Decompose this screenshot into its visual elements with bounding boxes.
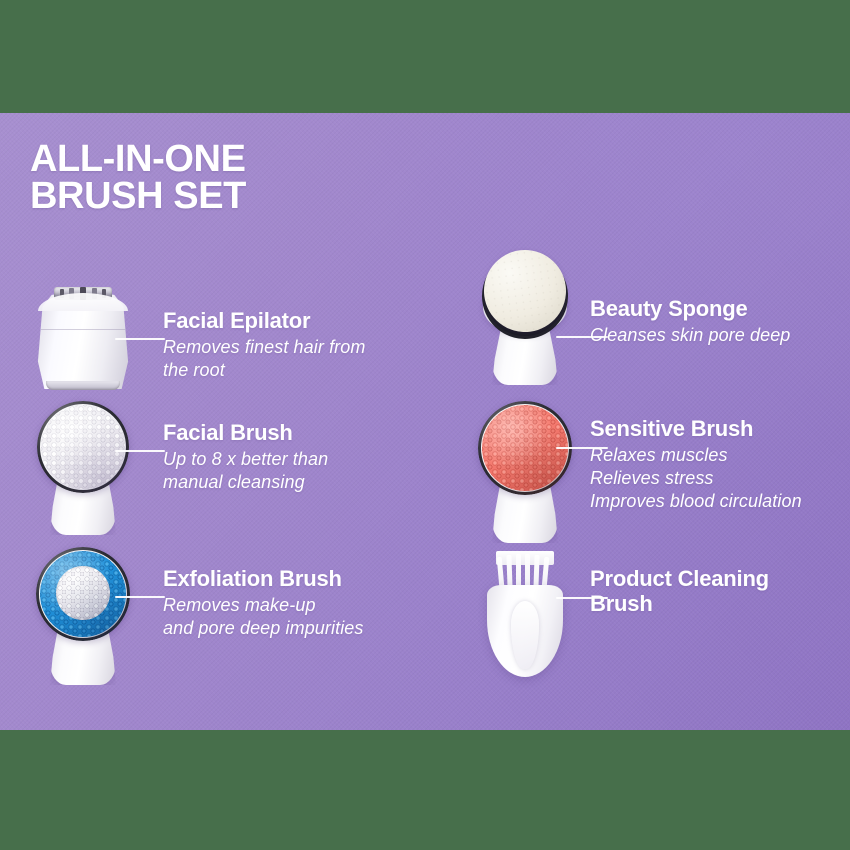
purple-stage: ALL-IN-ONE BRUSH SET [0,113,850,730]
exfoliation-brush-description: Removes make-up and pore deep impurities [163,594,428,640]
page-title: ALL-IN-ONE BRUSH SET [30,141,246,215]
leader-line-exfoliation-brush [115,596,165,598]
facial-epilator-copy: Facial Epilator Removes finest hair from… [163,309,418,382]
facial-epilator-icon [28,273,138,391]
feature-product-cleaning-brush: Product Cleaning Brush [460,545,850,690]
facial-brush-copy: Facial Brush Up to 8 x better than manua… [163,421,418,494]
sensitive-brush-description: Relaxes muscles Relieves stress Improves… [590,444,850,513]
beauty-sponge-copy: Beauty Sponge Cleanses skin pore deep [590,297,850,347]
beauty-sponge-description: Cleanses skin pore deep [590,324,850,347]
product-cleaning-brush-title: Product Cleaning Brush [590,567,850,616]
product-cleaning-brush-icon [470,545,580,690]
leader-line-facial-brush [115,450,165,452]
leader-line-facial-epilator [115,338,165,340]
facial-epilator-description: Removes finest hair from the root [163,336,418,382]
feature-exfoliation-brush: Exfoliation Brush Removes make-up and po… [20,541,420,686]
feature-facial-epilator: Facial Epilator Removes finest hair from… [20,273,420,403]
sensitive-brush-copy: Sensitive Brush Relaxes muscles Relieves… [590,417,850,513]
exfoliation-brush-title: Exfoliation Brush [163,567,428,592]
feature-facial-brush: Facial Brush Up to 8 x better than manua… [20,395,420,535]
sensitive-brush-icon [470,395,580,545]
feature-beauty-sponge: Beauty Sponge Cleanses skin pore deep [460,241,850,386]
facial-brush-description: Up to 8 x better than manual cleansing [163,448,418,494]
beauty-sponge-title: Beauty Sponge [590,297,850,322]
product-cleaning-brush-copy: Product Cleaning Brush [590,567,850,618]
feature-sensitive-brush: Sensitive Brush Relaxes muscles Relieves… [460,395,850,545]
exfoliation-brush-copy: Exfoliation Brush Removes make-up and po… [163,567,428,640]
facial-epilator-title: Facial Epilator [163,309,418,334]
facial-brush-title: Facial Brush [163,421,418,446]
exfoliation-brush-icon [28,541,138,686]
beauty-sponge-icon [470,241,580,386]
bottom-green-band [0,730,850,850]
product-infographic: ALL-IN-ONE BRUSH SET [0,0,850,850]
top-green-band [0,0,850,113]
sensitive-brush-title: Sensitive Brush [590,417,850,442]
facial-brush-icon [28,395,138,535]
